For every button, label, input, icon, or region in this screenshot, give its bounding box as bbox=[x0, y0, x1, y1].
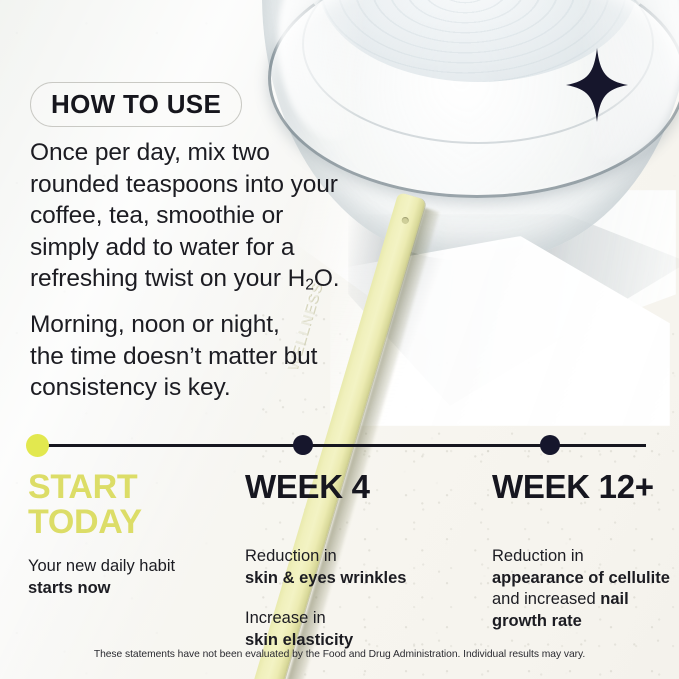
fda-disclaimer: These statements have not been evaluated… bbox=[0, 649, 679, 660]
timeline-dot-week4 bbox=[293, 435, 313, 455]
instr-line-3: coffee, tea, smoothie or bbox=[30, 202, 283, 229]
instr-line-1: Once per day, mix two bbox=[30, 139, 270, 166]
timeline-title-start: START TODAY bbox=[28, 470, 238, 540]
instr-line-5-post: O. bbox=[314, 265, 340, 292]
instruction-line: Once per day, mix two bbox=[30, 137, 340, 169]
timeline-title-week12: WEEK 12+ bbox=[492, 470, 679, 504]
timeline-dot-start bbox=[26, 434, 49, 457]
instr-line-2: rounded teaspoons into your bbox=[30, 171, 338, 198]
instr-line-4: simply add to water for a bbox=[30, 234, 294, 261]
timeline-column-start: START TODAY Your new daily habit starts … bbox=[28, 470, 238, 599]
benefit-normal: Reduction in bbox=[245, 546, 465, 568]
h2o-subscript: 2 bbox=[305, 277, 314, 294]
timeline-block: Reduction in skin & eyes wrinkles bbox=[245, 546, 465, 589]
benefit-bold: starts now bbox=[28, 578, 238, 600]
timeline-body-week4: Reduction in skin & eyes wrinkles Increa… bbox=[245, 546, 465, 651]
timeline-column-week12: WEEK 12+ Reduction in appearance of cell… bbox=[492, 470, 679, 632]
benefit-bold: skin & eyes wrinkles bbox=[245, 568, 465, 590]
timeline-body-week12: Reduction in appearance of cellulite and… bbox=[492, 546, 679, 632]
instructions-paragraph-1: Once per day, mix tworounded teaspoons i… bbox=[30, 137, 340, 296]
timeline-dot-week12 bbox=[540, 435, 560, 455]
timeline-column-week4: WEEK 4 Reduction in skin & eyes wrinkles… bbox=[245, 470, 465, 651]
timeline-block: Your new daily habit starts now bbox=[28, 556, 238, 599]
benefit-bold: appearance of cellulite bbox=[492, 568, 679, 590]
timeline-block: Increase in skin elasticity bbox=[245, 608, 465, 651]
timeline-title-week4: WEEK 4 bbox=[245, 470, 465, 504]
benefit-normal: Increase in bbox=[245, 608, 465, 630]
content-layer: HOW TO USE Once per day, mix tworounded … bbox=[0, 0, 679, 679]
how-to-use-badge: HOW TO USE bbox=[30, 82, 242, 127]
timeline-block: Reduction in appearance of cellulite and… bbox=[492, 546, 679, 632]
instruction-line: coffee, tea, smoothie or bbox=[30, 200, 340, 232]
benefit-normal: Your new daily habit bbox=[28, 556, 238, 578]
instructions-paragraph-2: Morning, noon or night, the time doesn’t… bbox=[30, 309, 320, 404]
instruction-line: rounded teaspoons into your bbox=[30, 169, 340, 201]
benefit-normal: Reduction in bbox=[492, 546, 679, 568]
infographic-canvas: WELLNESS HOW TO USE Once per day, mix tw… bbox=[0, 0, 679, 679]
instruction-line: refreshing twist on your H2O. bbox=[30, 263, 340, 296]
benefit-normal-inline: and increased bbox=[492, 590, 600, 608]
timeline-body-start: Your new daily habit starts now bbox=[28, 556, 238, 599]
instr-line-5-pre: refreshing twist on your H bbox=[30, 265, 305, 292]
benefit-mixed: and increased nail growth rate bbox=[492, 589, 679, 632]
instruction-line: simply add to water for a bbox=[30, 232, 340, 264]
